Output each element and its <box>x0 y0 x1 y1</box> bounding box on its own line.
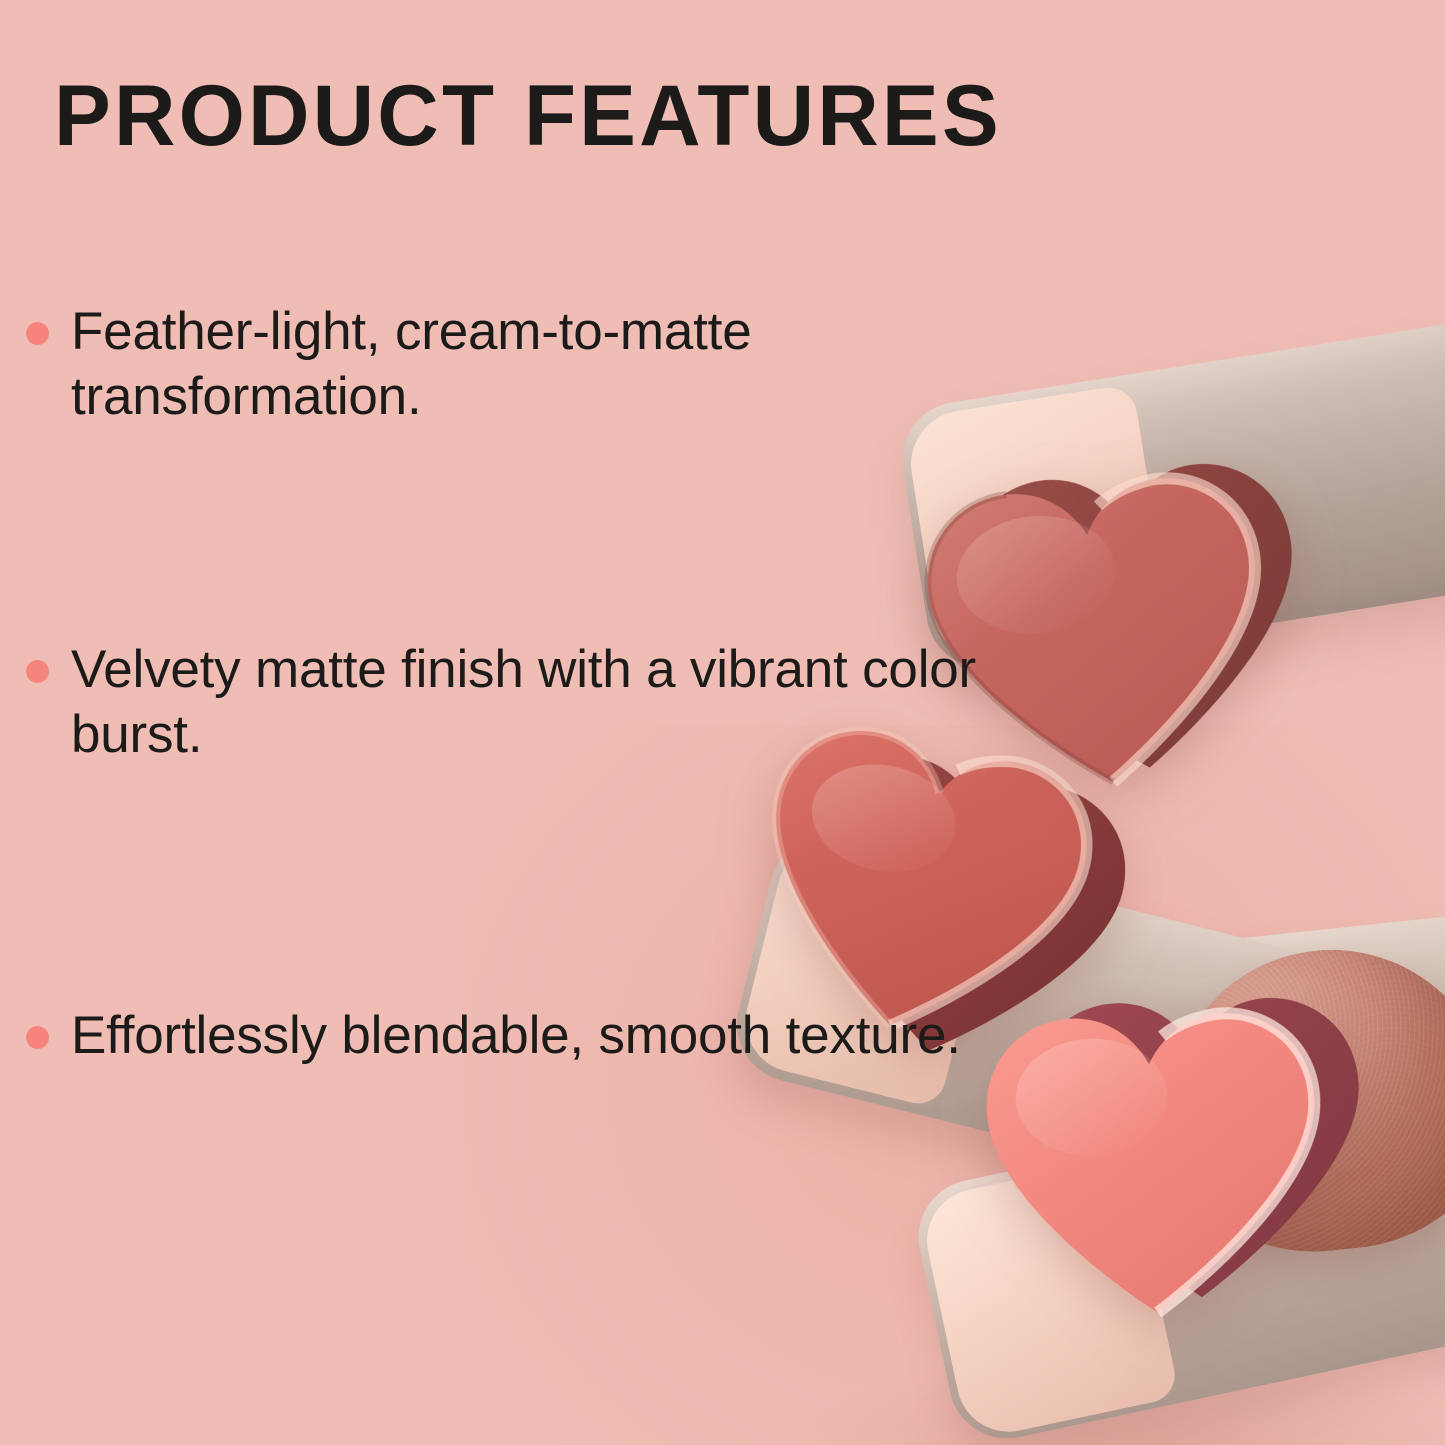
feature-item: Effortlessly blendable, smooth texture. <box>26 1004 961 1069</box>
product-photo <box>735 390 1445 1445</box>
bullet-dot-icon <box>26 1026 49 1049</box>
product-features-poster: PRODUCT FEATURES Feather-light, cream-to… <box>0 0 1445 1445</box>
salmon-pink-heart <box>974 984 1331 1341</box>
feature-text: Effortlessly blendable, smooth texture. <box>71 1004 961 1069</box>
bullet-dot-icon <box>26 322 49 345</box>
feature-item: Feather-light, cream-to-matte transforma… <box>26 300 1001 429</box>
feature-text: Feather-light, cream-to-matte transforma… <box>71 300 1001 429</box>
feature-item: Velvety matte finish with a vibrant colo… <box>26 638 1001 767</box>
page-title: PRODUCT FEATURES <box>54 73 1002 159</box>
bullet-dot-icon <box>26 660 49 683</box>
feature-text: Velvety matte finish with a vibrant colo… <box>71 638 1001 767</box>
